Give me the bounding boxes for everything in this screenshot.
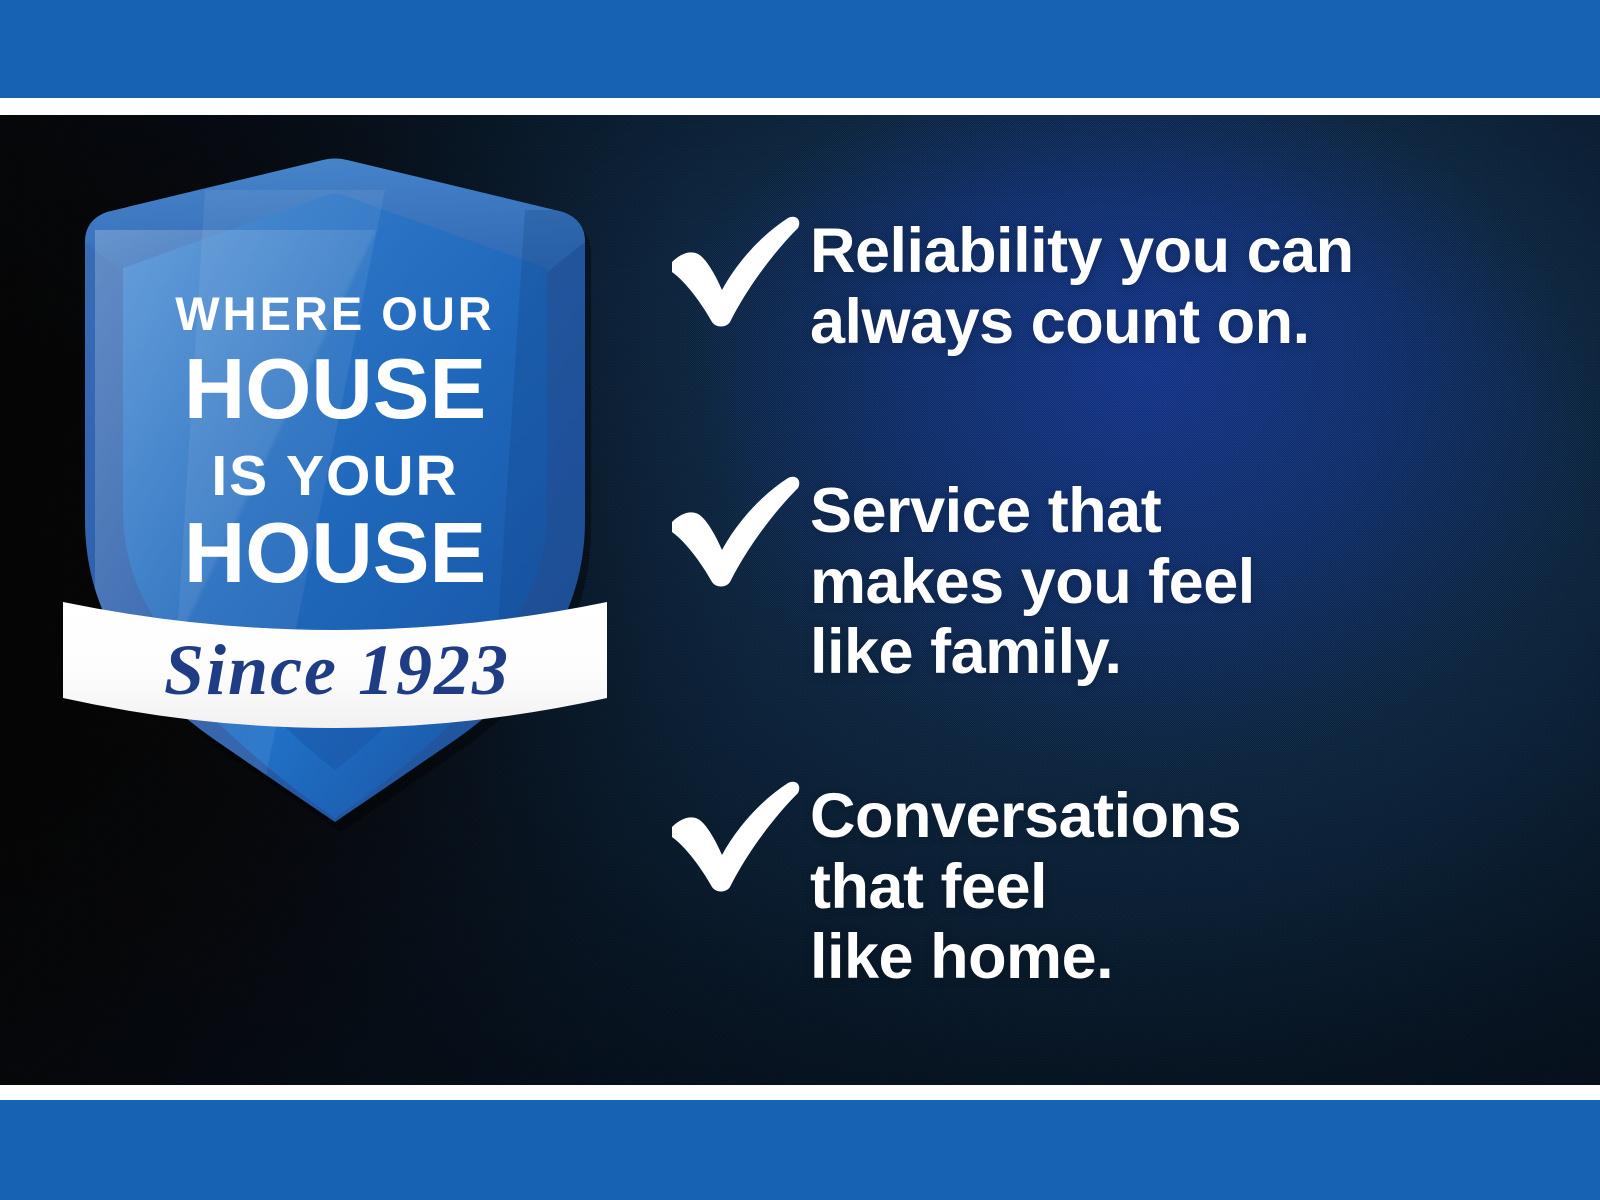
check-icon xyxy=(660,775,810,895)
badge-line-3: IS YOUR xyxy=(211,444,458,508)
bottom-white-divider xyxy=(0,1085,1600,1100)
badge-line-4: HOUSE xyxy=(184,506,486,601)
benefit-text: Conversations that feel like home. xyxy=(810,775,1500,993)
top-white-divider xyxy=(0,98,1600,115)
shield-badge: WHERE OUR HOUSE IS YOUR HOUSE Since 1923 xyxy=(55,150,615,830)
benefit-item-reliability: Reliability you can always count on. xyxy=(660,210,1570,357)
benefit-text: Service that makes you feel like family. xyxy=(810,470,1500,688)
benefit-item-conversations: Conversations that feel like home. xyxy=(660,775,1500,993)
benefit-text: Reliability you can always count on. xyxy=(810,210,1570,357)
benefit-item-service: Service that makes you feel like family. xyxy=(660,470,1500,688)
benefits-list: Reliability you can always count on. Ser… xyxy=(660,115,1570,1085)
top-brand-bar xyxy=(0,0,1600,98)
promo-graphic-canvas: WHERE OUR HOUSE IS YOUR HOUSE Since 1923… xyxy=(0,0,1600,1200)
check-icon xyxy=(660,470,810,590)
check-icon xyxy=(660,210,810,330)
badge-line-1: WHERE OUR xyxy=(175,287,494,340)
ribbon-since-text: Since 1923 xyxy=(164,630,510,710)
bottom-brand-bar xyxy=(0,1100,1600,1200)
badge-line-2: HOUSE xyxy=(184,342,486,437)
